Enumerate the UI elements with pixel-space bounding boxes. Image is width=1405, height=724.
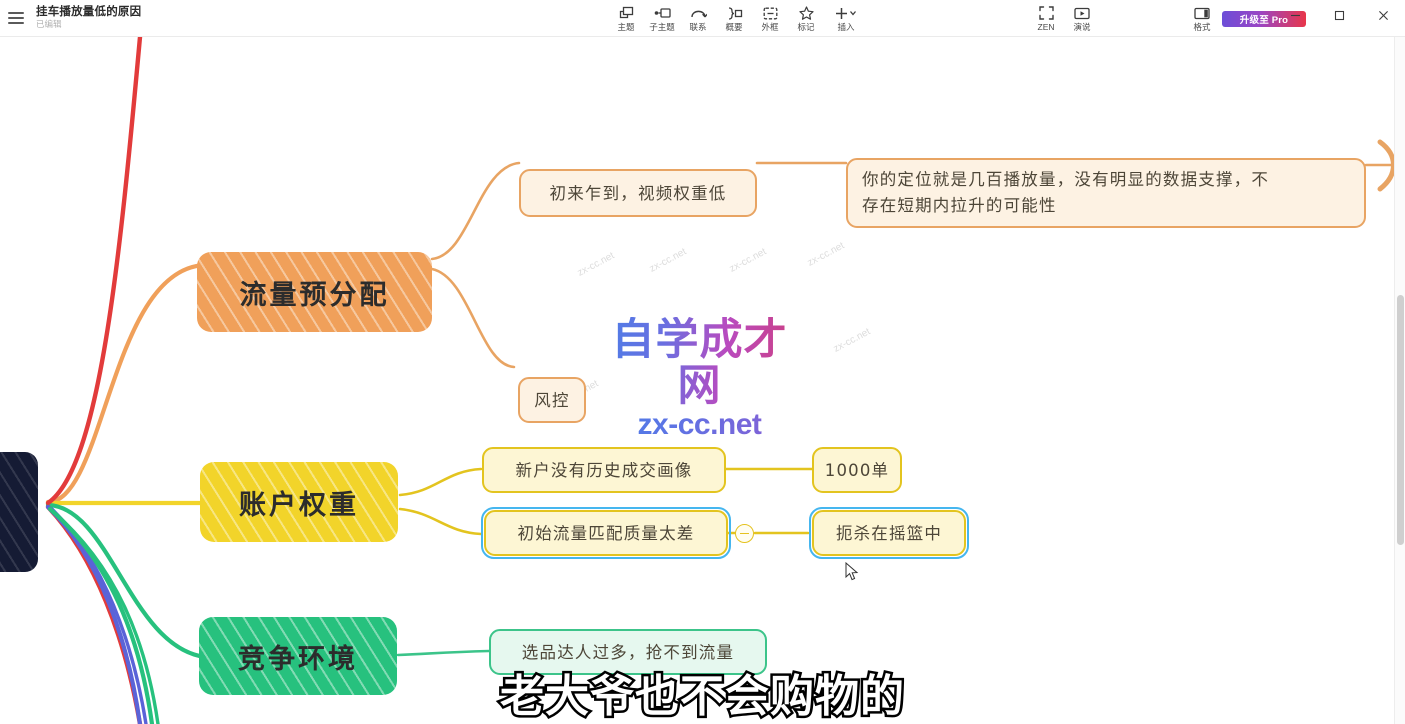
main-node-account-label: 账户权重 — [239, 483, 359, 522]
toolbar-item-subtopic[interactable]: 子主题 — [644, 0, 680, 37]
toolbar-item-relationship-label: 联系 — [689, 22, 706, 32]
window-controls — [1273, 0, 1405, 30]
toolbar-item-zen[interactable]: ZEN — [1028, 0, 1064, 37]
toolbar-item-presentation[interactable]: 演说 — [1064, 0, 1100, 37]
leaf-node-riskcontrol[interactable]: 风控 — [518, 377, 586, 423]
leaf-node-cradle-label: 扼杀在摇篮中 — [836, 521, 942, 546]
toolbar-item-format[interactable]: 格式 — [1184, 0, 1220, 37]
leaf-node-badmatch[interactable]: 初始流量匹配质量太差 — [484, 510, 728, 556]
minus-icon — [740, 533, 749, 535]
subtitle-overlay: 老大爷也不会购物的 — [0, 660, 1405, 724]
marker-star-icon — [799, 6, 814, 21]
leaf-node-position[interactable]: 你的定位就是几百播放量，没有明显的数据支撑，不 存在短期内拉升的可能性 — [846, 158, 1366, 228]
summary-icon — [726, 6, 743, 21]
toolbar-item-insert-label: 插入 — [837, 22, 854, 32]
vertical-scrollbar[interactable] — [1394, 37, 1405, 724]
toolbar-item-boundary-label: 外框 — [761, 22, 778, 32]
document-title-block: 挂车播放量低的原因 已编辑 — [36, 6, 141, 30]
toolbar-format-group: 格式 — [1184, 0, 1220, 37]
toolbar-item-presentation-label: 演说 — [1073, 22, 1090, 32]
main-node-traffic[interactable]: 流量预分配 — [197, 252, 432, 332]
toolbar-item-zen-label: ZEN — [1038, 22, 1055, 32]
leaf-node-orders[interactable]: 1000单 — [812, 447, 902, 493]
relationship-icon — [690, 6, 707, 21]
minimize-icon[interactable] — [1273, 0, 1317, 30]
title-bar: 挂车播放量低的原因 已编辑 主题 子主题 联系 概要 — [0, 0, 1405, 37]
toolbar-item-marker[interactable]: 标记 — [788, 0, 824, 37]
maximize-icon[interactable] — [1317, 0, 1361, 30]
toolbar-item-summary[interactable]: 概要 — [716, 0, 752, 37]
main-node-traffic-label: 流量预分配 — [240, 273, 390, 312]
leaf-node-newuser[interactable]: 新户没有历史成交画像 — [482, 447, 726, 493]
topic-icon — [619, 6, 634, 21]
collapse-toggle-button[interactable] — [735, 524, 754, 543]
leaf-node-cradle[interactable]: 扼杀在摇篮中 — [812, 510, 966, 556]
format-panel-icon — [1194, 6, 1210, 21]
toolbar-item-insert[interactable]: 插入 — [824, 0, 868, 37]
vertical-scrollbar-thumb[interactable] — [1397, 295, 1404, 545]
main-node-account[interactable]: 账户权重 — [200, 462, 398, 542]
boundary-icon — [763, 6, 778, 21]
toolbar-item-marker-label: 标记 — [797, 22, 814, 32]
toolbar-item-boundary[interactable]: 外框 — [752, 0, 788, 37]
hamburger-menu-icon[interactable] — [8, 12, 24, 24]
close-icon[interactable] — [1361, 0, 1405, 30]
toolbar-left-group: 主题 子主题 联系 概要 外框 — [608, 0, 868, 37]
toolbar-item-subtopic-label: 子主题 — [649, 22, 675, 32]
mindmap-canvas[interactable]: zx-cc.net zx-cc.net zx-cc.net zx-cc.net … — [0, 37, 1405, 724]
leaf-node-newcomer[interactable]: 初来乍到，视频权重低 — [519, 169, 757, 217]
toolbar-item-relationship[interactable]: 联系 — [680, 0, 716, 37]
leaf-node-position-label: 你的定位就是几百播放量，没有明显的数据支撑，不 存在短期内拉升的可能性 — [862, 167, 1269, 219]
subtopic-icon — [654, 6, 671, 21]
document-status: 已编辑 — [36, 19, 141, 30]
toolbar-item-topic-label: 主题 — [617, 22, 634, 32]
leaf-node-orders-label: 1000单 — [825, 458, 890, 483]
toolbar-item-summary-label: 概要 — [725, 22, 742, 32]
toolbar-item-topic[interactable]: 主题 — [608, 0, 644, 37]
leaf-node-badmatch-label: 初始流量匹配质量太差 — [518, 521, 695, 546]
toolbar-right-group: ZEN 演说 — [1028, 0, 1100, 37]
zen-mode-icon — [1039, 6, 1054, 21]
leaf-node-riskcontrol-label: 风控 — [534, 388, 569, 413]
page-title: 挂车播放量低的原因 — [36, 6, 141, 19]
toolbar-item-format-label: 格式 — [1193, 22, 1210, 32]
leaf-node-newuser-label: 新户没有历史成交画像 — [516, 458, 693, 483]
leaf-node-newcomer-label: 初来乍到，视频权重低 — [550, 181, 727, 206]
presentation-icon — [1074, 6, 1090, 21]
center-node[interactable] — [0, 452, 38, 572]
insert-plus-icon — [834, 6, 858, 21]
